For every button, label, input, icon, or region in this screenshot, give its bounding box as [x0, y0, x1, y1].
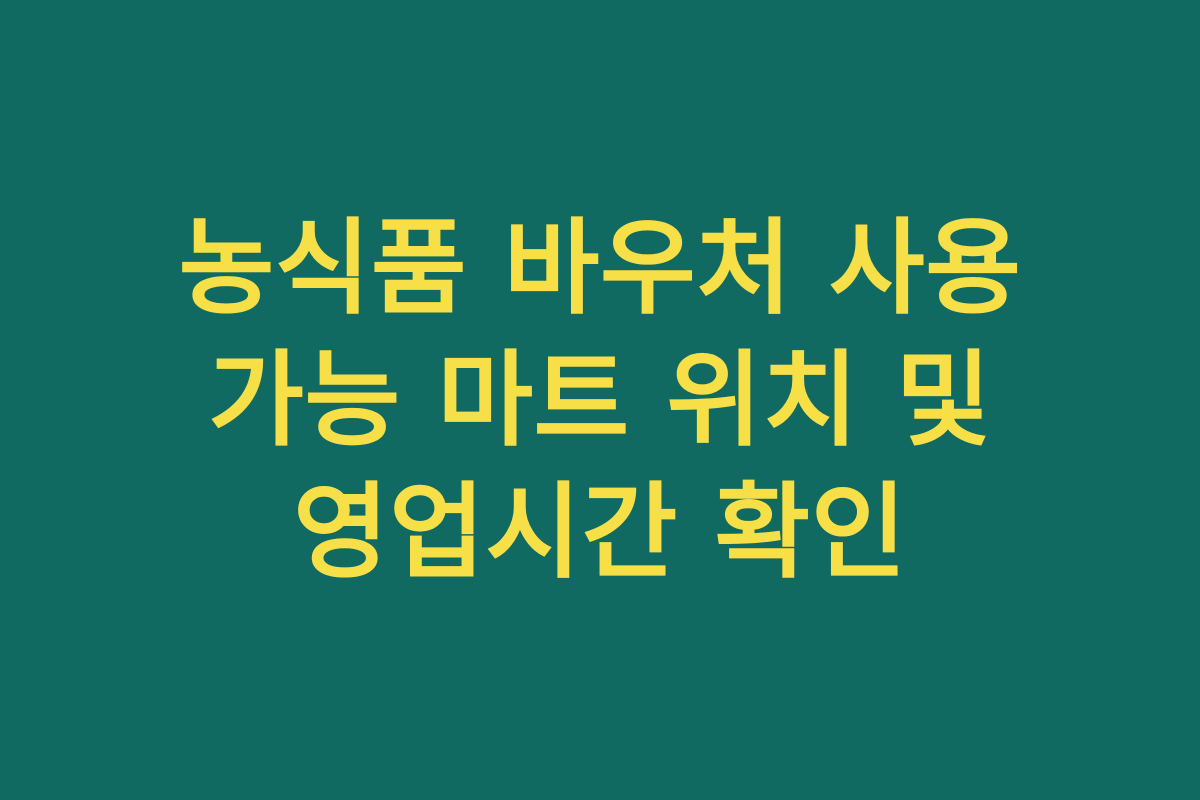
- banner-content: 농식품 바우처 사용 가능 마트 위치 및 영업시간 확인: [0, 202, 1200, 598]
- text-banner: 농식품 바우처 사용 가능 마트 위치 및 영업시간 확인: [0, 0, 1200, 800]
- banner-headline: 농식품 바우처 사용 가능 마트 위치 및 영업시간 확인: [118, 202, 1082, 598]
